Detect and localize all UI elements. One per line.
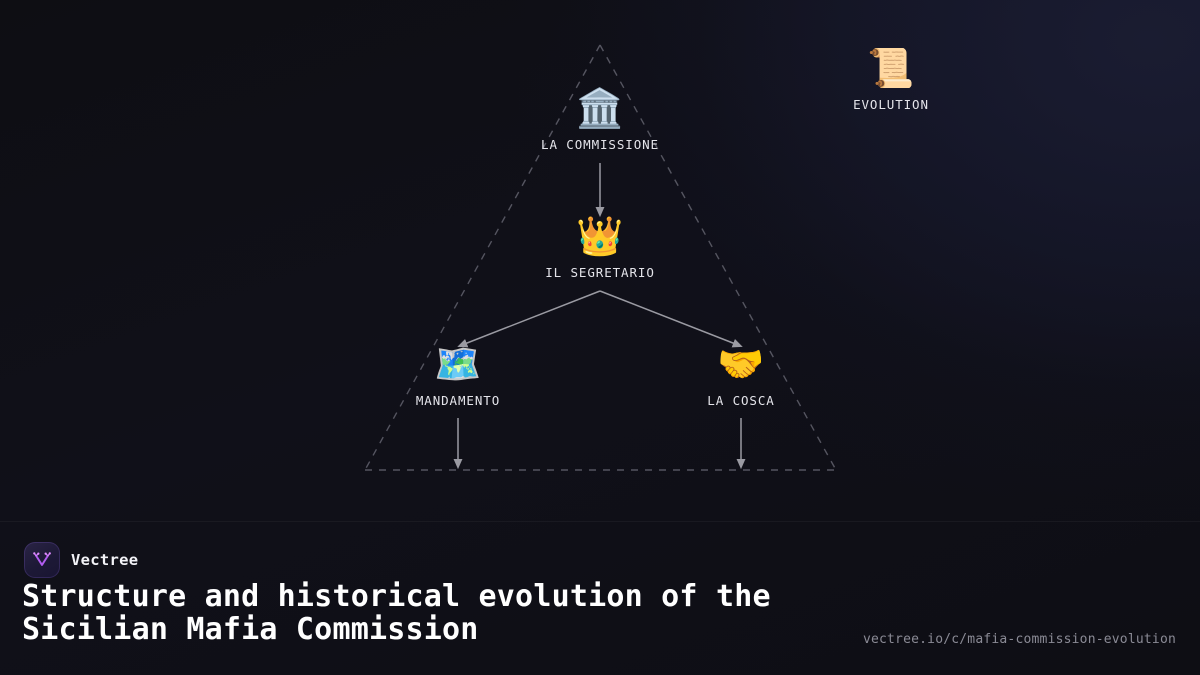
footer: Vectree Structure and historical evoluti… — [0, 522, 1200, 675]
scroll-icon: 📜 — [867, 46, 914, 92]
edge-segretario-mandamento — [462, 291, 600, 345]
classical-building-icon: 🏛️ — [576, 86, 623, 132]
vectree-logo-glyph — [31, 549, 53, 571]
graph-node-label: MANDAMENTO — [416, 393, 500, 408]
handshake-icon: 🤝 — [717, 342, 764, 388]
brand[interactable]: Vectree — [24, 542, 138, 578]
graph-node-label: LA COSCA — [707, 393, 774, 408]
graph-canvas[interactable]: 🏛️ LA COMMISSIONE 👑 IL SEGRETARIO 🗺️ MAN… — [0, 0, 1200, 521]
graph-node-mandamento[interactable]: 🗺️ MANDAMENTO — [343, 342, 573, 408]
world-map-icon: 🗺️ — [434, 342, 481, 388]
brand-name: Vectree — [71, 551, 138, 569]
graph-node-il-segretario[interactable]: 👑 IL SEGRETARIO — [485, 214, 715, 280]
page-title: Structure and historical evolution of th… — [22, 580, 852, 646]
graph-node-label: LA COMMISSIONE — [541, 137, 659, 152]
graph-node-la-cosca[interactable]: 🤝 LA COSCA — [626, 342, 856, 408]
graph-node-evolution[interactable]: 📜 EVOLUTION — [776, 46, 1006, 112]
edge-segretario-cosca — [600, 291, 738, 345]
footer-url: vectree.io/c/mafia-commission-evolution — [863, 632, 1176, 647]
graph-node-label: EVOLUTION — [853, 97, 929, 112]
graph-node-label: IL SEGRETARIO — [545, 265, 655, 280]
vectree-logo-icon — [24, 542, 60, 578]
screenshot-root: 🏛️ LA COMMISSIONE 👑 IL SEGRETARIO 🗺️ MAN… — [0, 0, 1200, 675]
crown-icon: 👑 — [576, 214, 623, 260]
graph-node-la-commissione[interactable]: 🏛️ LA COMMISSIONE — [485, 86, 715, 152]
